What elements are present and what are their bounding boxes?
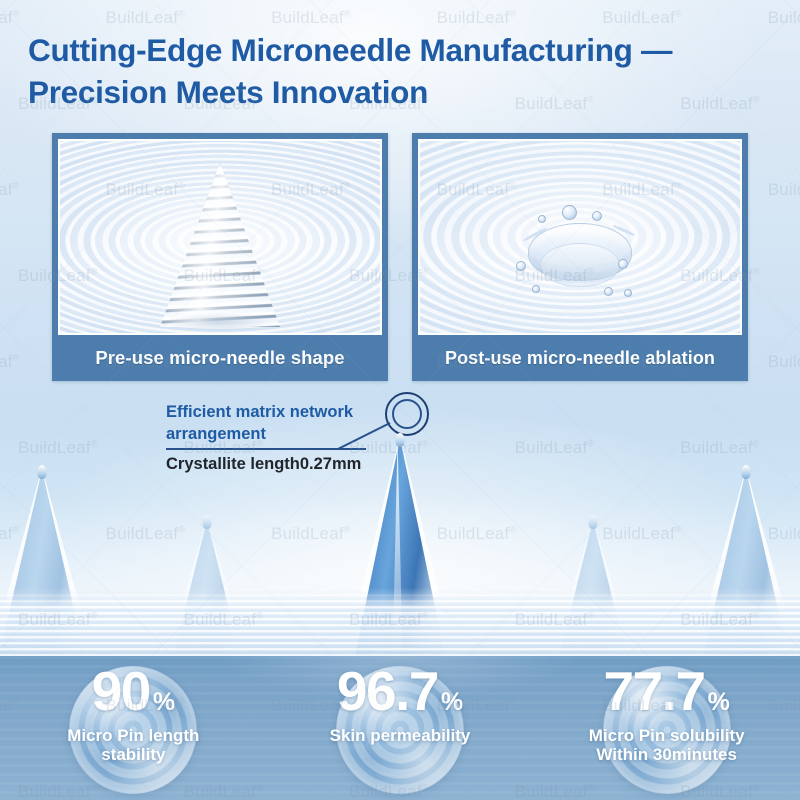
watermark-text: BuildLeaf® (602, 8, 682, 28)
needle-tip-icon (38, 465, 47, 479)
droplet-bead (592, 211, 602, 221)
photo-pre-use (58, 139, 382, 335)
droplet-bead (618, 259, 628, 269)
stat-label: Micro Pin solubility Within 30minutes (589, 726, 745, 764)
stat-item-skin-permeability: 96.7 % Skin permeability (267, 660, 534, 800)
cone-sheen (160, 163, 280, 327)
stat-item-length-stability: 90 % Micro Pin length stability (0, 660, 267, 800)
stat-value: 96.7 % (337, 664, 463, 719)
page-title: Cutting-Edge Microneedle Manufacturing —… (28, 30, 788, 114)
droplet-bead (516, 261, 526, 271)
stat-value: 90 % (92, 664, 175, 719)
photo-card-post-use[interactable]: Post-use micro-needle ablation (412, 133, 748, 381)
watermark-text: BuildLeaf® (768, 8, 800, 28)
poster-canvas: Cutting-Edge Microneedle Manufacturing —… (0, 0, 800, 800)
splash-crown-inner (540, 243, 620, 287)
callout-title: Efficient matrix network arrangement (166, 401, 388, 446)
stat-value: 77.7 % (604, 664, 730, 719)
photo-card-pre-use[interactable]: Pre-use micro-needle shape (52, 133, 388, 381)
watermark-text: BuildLeaf® (106, 8, 186, 28)
stat-percent-sign: % (153, 690, 175, 715)
needle-tip-icon (396, 433, 405, 447)
stat-percent-sign: % (441, 690, 463, 715)
callout-underline (166, 448, 366, 450)
stat-item-solubility: 77.7 % Micro Pin solubility Within 30min… (533, 660, 800, 800)
photo-card-row: Pre-use micro-needle shape (0, 133, 800, 381)
droplet-bead (538, 215, 546, 223)
stat-number: 90 (92, 664, 150, 719)
watermark-text: BuildLeaf® (0, 8, 20, 28)
callout-subtitle: Crystallite length0.27mm (166, 455, 416, 474)
droplet-bead (604, 287, 613, 296)
stat-row: 90 % Micro Pin length stability 96.7 % S… (0, 660, 800, 800)
stat-number: 96.7 (337, 664, 438, 719)
stat-label: Micro Pin length stability (67, 726, 199, 764)
photo-caption-pre-use: Pre-use micro-needle shape (58, 335, 382, 381)
cone-shadow (145, 309, 295, 335)
water-surface (0, 588, 800, 656)
page-title-line1: Cutting-Edge Microneedle Manufacturing — (28, 32, 672, 68)
stat-label: Skin permeability (330, 726, 471, 745)
watermark-text: BuildLeaf® (271, 8, 351, 28)
water-splash-graphic (500, 199, 660, 309)
droplet-bead (624, 289, 632, 297)
needle-tip-icon (589, 515, 598, 529)
droplet-bead (532, 285, 540, 293)
page-title-line2: Precision Meets Innovation (28, 72, 788, 114)
stat-number: 77.7 (604, 664, 705, 719)
needle-tip-icon (203, 515, 212, 529)
photo-post-use (418, 139, 742, 335)
photo-caption-post-use: Post-use micro-needle ablation (418, 335, 742, 381)
ribbed-cone-graphic (160, 163, 280, 327)
stat-percent-sign: % (708, 690, 730, 715)
needle-tip-icon (742, 465, 751, 479)
droplet-bead (562, 205, 577, 220)
watermark-text: BuildLeaf® (437, 8, 517, 28)
